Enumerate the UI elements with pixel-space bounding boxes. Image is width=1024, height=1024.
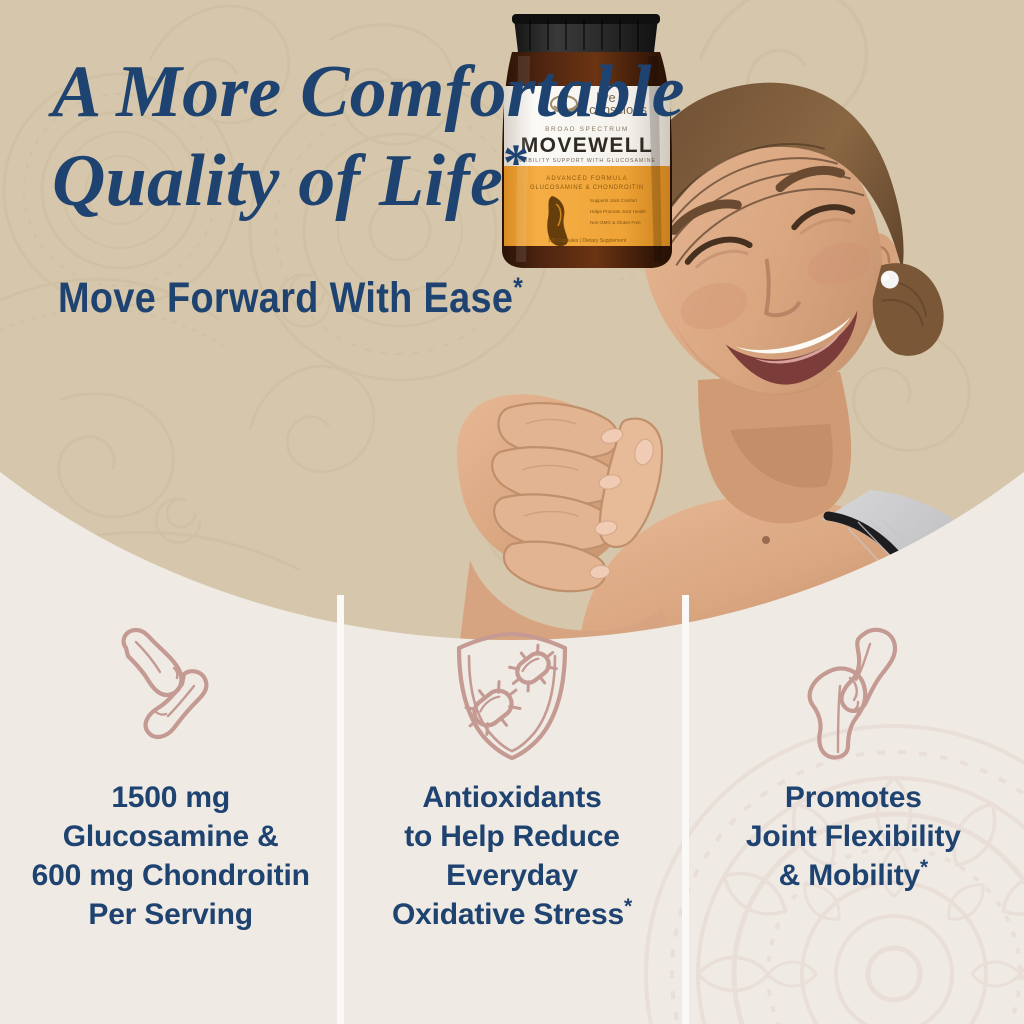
headline-line-1: A More Comfortable — [52, 51, 685, 133]
benefits-section: 1500 mg Glucosamine & 600 mg Chondroitin… — [0, 640, 1024, 1024]
joint-bones-icon — [96, 603, 246, 778]
subheadline-text: Move Forward With Ease — [58, 274, 513, 322]
hip-joint-icon — [778, 603, 928, 778]
product-marketing-image: live conscious BROAD SPECTRUM MOVEWELL M… — [0, 0, 1024, 1024]
benefit-text-3: Promotes Joint Flexibility & Mobility* — [740, 778, 967, 895]
subheadline: Move Forward With Ease* — [58, 277, 523, 320]
benefits-columns: 1500 mg Glucosamine & 600 mg Chondroitin… — [0, 595, 1024, 1024]
benefit-column-2: Antioxidants to Help Reduce Everyday Oxi… — [341, 595, 682, 1024]
benefit-column-3: Promotes Joint Flexibility & Mobility* — [683, 595, 1024, 1024]
benefit-text-1: 1500 mg Glucosamine & 600 mg Chondroitin… — [26, 778, 316, 934]
benefit-text-2: Antioxidants to Help Reduce Everyday Oxi… — [386, 778, 638, 934]
subheadline-asterisk: * — [513, 272, 523, 303]
headline-asterisk: * — [503, 134, 529, 191]
shield-antioxidant-icon — [437, 603, 587, 778]
headline-line-2: Quality of Life — [52, 140, 503, 222]
headline: A More Comfortable Quality of Life* — [52, 48, 842, 226]
svg-text:120 Capsules | Dietary Suppl: 120 Capsules | Dietary Supplement — [548, 238, 627, 244]
benefit-column-1: 1500 mg Glucosamine & 600 mg Chondroitin… — [0, 595, 341, 1024]
